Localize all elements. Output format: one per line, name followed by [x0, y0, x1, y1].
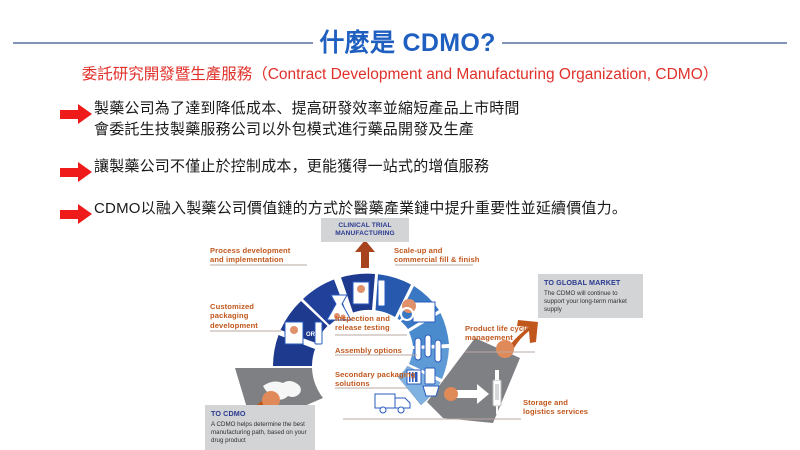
label-line: Product life cycle [465, 324, 530, 333]
label-line: release testing [335, 323, 390, 332]
to-cdmo-body: A CDMO helps determine the best manufact… [211, 421, 309, 445]
bullet-line: 讓製藥公司不僅止於控制成本，更能獲得一站式的增值服務 [94, 156, 489, 177]
arrow-right-icon [60, 204, 94, 224]
packaging-icon: OR [285, 322, 322, 344]
label-line: Process development [210, 246, 290, 255]
ctm-line-2: MANUFACTURING [335, 230, 395, 237]
arrow-right-icon [60, 104, 94, 124]
to-global-market-box: TO GLOBAL MARKET The CDMO will continue … [538, 274, 643, 318]
label-line: packaging [210, 311, 248, 320]
cdmo-process-diagram: OR [175, 218, 795, 450]
to-global-market-title: TO GLOBAL MARKET [544, 279, 637, 288]
bullet-line: 會委託生技製藥服務公司以外包模式進行藥品開發及生產 [94, 119, 520, 140]
label-line: commercial fill & finish [394, 255, 480, 264]
bullet-text: CDMO以融入製藥公司價值鏈的方式於醫藥產業鏈中提升重要性並延續價值力。 [94, 198, 627, 219]
label-line: Secondary packaging [335, 370, 415, 379]
arrow-right-icon [60, 162, 94, 182]
to-global-market-body: The CDMO will continue to support your l… [544, 290, 637, 314]
truck-icon [375, 394, 410, 413]
label-customized-packaging: Customized packaging development [210, 302, 258, 330]
bullet-list: 製藥公司為了達到降低成本、提高研發效率並縮短產品上市時間 會委託生技製藥服務公司… [60, 98, 760, 237]
title-rule-left [13, 42, 313, 44]
label-line: Storage and [523, 398, 568, 407]
lifecycle-bead-icon [444, 387, 458, 401]
to-cdmo-box: TO CDMO A CDMO helps determine the best … [205, 405, 315, 450]
list-item: 製藥公司為了達到降低成本、提高研發效率並縮短產品上市時間 會委託生技製藥服務公司… [60, 98, 760, 141]
bullet-line: 製藥公司為了達到降低成本、提高研發效率並縮短產品上市時間 [94, 98, 520, 119]
to-cdmo-title: TO CDMO [211, 410, 309, 419]
label-line: development [210, 321, 258, 330]
clinical-trial-arrow-icon [355, 240, 375, 268]
label-inspection: Inspection and release testing [335, 314, 390, 333]
label-line: Scale-up and [394, 246, 442, 255]
label-storage-logistics: Storage and logistics services [523, 398, 588, 417]
label-product-life-cycle: Product life cycle management [465, 324, 530, 343]
title-rule-right [502, 42, 787, 44]
label-line: management [465, 333, 513, 342]
page-title: 什麼是 CDMO? [319, 31, 495, 56]
clinical-trial-manufacturing-box: CLINICAL TRIAL MANUFACTURING [321, 218, 409, 242]
label-line: Assembly options [335, 346, 402, 355]
label-line: and implementation [210, 255, 284, 264]
label-line: logistics services [523, 407, 588, 416]
bullet-line: CDMO以融入製藥公司價值鏈的方式於醫藥產業鏈中提升重要性並延續價值力。 [94, 198, 627, 219]
fill-finish-icon [353, 280, 385, 306]
label-line: Inspection and [335, 314, 390, 323]
clinical-trial-box-text: CLINICAL TRIAL MANUFACTURING [335, 222, 395, 238]
page-subtitle: 委託研究開發暨生產服務（Contract Development and Man… [0, 62, 800, 84]
label-assembly-options: Assembly options [335, 346, 402, 355]
label-secondary-packaging: Secondary packaging solutions [335, 370, 415, 389]
list-item: 讓製藥公司不僅止於控制成本，更能獲得一站式的增值服務 [60, 156, 760, 182]
slide-root: 什麼是 CDMO? 委託研究開發暨生產服務（Contract Developme… [0, 0, 800, 450]
label-line: Customized [210, 302, 254, 311]
label-scale-up: Scale-up and commercial fill & finish [394, 246, 480, 265]
page-title-row: 什麼是 CDMO? [0, 26, 800, 60]
svg-text:OR: OR [306, 332, 316, 338]
label-process-development: Process development and implementation [210, 246, 290, 265]
label-line: solutions [335, 379, 370, 388]
bullet-text: 製藥公司為了達到降低成本、提高研發效率並縮短產品上市時間 會委託生技製藥服務公司… [94, 98, 520, 141]
ctm-line-1: CLINICAL TRIAL [338, 222, 391, 229]
bullet-text: 讓製藥公司不僅止於控制成本，更能獲得一站式的增值服務 [94, 156, 489, 177]
